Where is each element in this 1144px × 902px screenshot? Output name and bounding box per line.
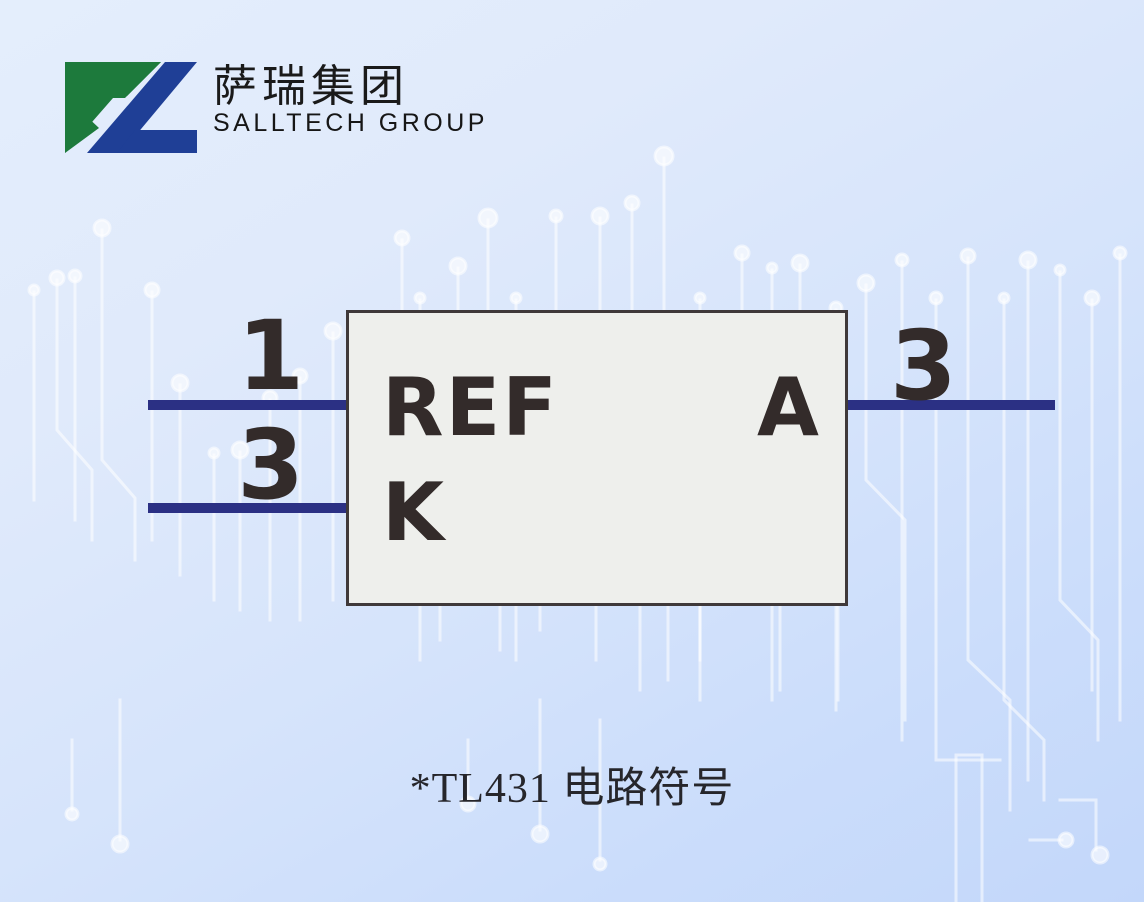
pin-number-a: 3: [890, 318, 970, 414]
pin-label-k: K: [382, 473, 444, 553]
pin-label-ref: REF: [382, 368, 559, 448]
pin-number-ref: 1: [200, 308, 304, 404]
pin-label-a: A: [757, 368, 819, 448]
figure-caption: *TL431 电路符号: [0, 764, 1144, 814]
ic-body-rectangle: [346, 310, 848, 606]
slide-canvas: 萨瑞集团 SALLTECH GROUP REF K A 1 3 3 *TL431…: [0, 0, 1144, 902]
pin-number-k: 3: [200, 417, 304, 513]
